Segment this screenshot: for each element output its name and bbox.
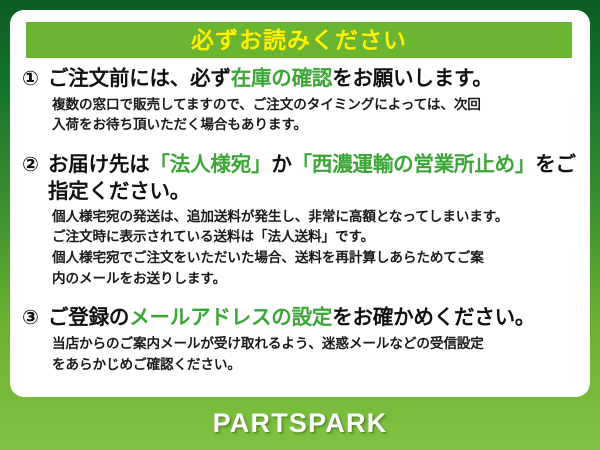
notice-item-2-heading: ②お届け先は「法人様宛」か「西濃運輸の営業所止め」をご指定ください。 xyxy=(22,152,580,205)
item-2-body-line: 個人様宅宛の発送は、追加送料が発生し、非常に高額となってしまいます。 xyxy=(52,207,580,228)
notice-item-2-body: 個人様宅宛の発送は、追加送料が発生し、非常に高額となってしまいます。 ご注文時に… xyxy=(52,207,580,290)
item-2-heading-highlight-2: 「西濃運輸の営業所止め」 xyxy=(292,153,536,176)
notice-item-3-body: 当店からのご案内メールが受け取れるよう、迷惑メールなどの受信設定 をあらかじめご… xyxy=(52,334,580,375)
item-marker-2: ② xyxy=(22,153,48,179)
notice-item-2: ②お届け先は「法人様宛」か「西濃運輸の営業所止め」をご指定ください。 個人様宅宛… xyxy=(10,152,590,289)
notice-item-list: ①ご注文前には、必ず在庫の確認をお願いします。 複数の窓口で販売してますので、ご… xyxy=(10,66,590,375)
item-1-heading-highlight: 在庫の確認 xyxy=(231,67,333,90)
item-marker-1: ① xyxy=(22,67,48,93)
item-marker-3: ③ xyxy=(22,306,48,332)
page-title: 必ずお読みください xyxy=(191,29,407,52)
item-1-body-line: 複数の窓口で販売してますので、ご注文のタイミングによっては、次回 xyxy=(52,95,580,116)
notice-item-3: ③ご登録のメールアドレスの設定をお確かめください。 当店からのご案内メールが受け… xyxy=(10,305,590,375)
item-1-heading-pre: ご注文前には、必ず xyxy=(48,67,231,90)
notice-frame: 必ずお読みください ①ご注文前には、必ず在庫の確認をお願いします。 複数の窓口で… xyxy=(0,0,600,450)
notice-item-3-heading: ③ご登録のメールアドレスの設定をお確かめください。 xyxy=(22,305,580,332)
item-1-body-line: 入荷をお待ち頂いただく場合もあります。 xyxy=(52,115,580,136)
notice-card: 必ずお読みください ①ご注文前には、必ず在庫の確認をお願いします。 複数の窓口で… xyxy=(10,10,590,397)
item-3-body-line: 当店からのご案内メールが受け取れるよう、迷惑メールなどの受信設定 xyxy=(52,334,580,355)
item-1-heading-post: をお願いします。 xyxy=(332,67,492,90)
footer-band: PARTSPARK xyxy=(0,397,600,450)
brand-logo-text: PARTSPARK xyxy=(213,408,388,439)
item-3-heading-highlight: メールアドレスの設定 xyxy=(129,306,332,329)
item-2-body-line: 内のメールをお送りします。 xyxy=(52,269,580,290)
notice-item-1: ①ご注文前には、必ず在庫の確認をお願いします。 複数の窓口で販売してますので、ご… xyxy=(10,66,590,136)
header-banner: 必ずお読みください xyxy=(26,22,572,58)
notice-item-1-body: 複数の窓口で販売してますので、ご注文のタイミングによっては、次回 入荷をお待ち頂… xyxy=(52,95,580,136)
item-3-body-line: をあらかじめご確認ください。 xyxy=(52,355,580,376)
item-2-body-line: 個人様宅宛でご注文をいただいた場合、送料を再計算しあらためてご案 xyxy=(52,248,580,269)
item-3-heading-post: をお確かめください。 xyxy=(332,306,535,329)
notice-item-1-heading: ①ご注文前には、必ず在庫の確認をお願いします。 xyxy=(22,66,580,93)
item-2-body-line: ご注文時に表示されている送料は「法人送料」です。 xyxy=(52,227,580,248)
item-2-heading-mid: か xyxy=(271,153,291,176)
item-2-heading-pre: お届け先は xyxy=(48,153,150,176)
item-3-heading-pre: ご登録の xyxy=(48,306,129,329)
item-2-heading-highlight: 「法人様宛」 xyxy=(150,153,272,176)
